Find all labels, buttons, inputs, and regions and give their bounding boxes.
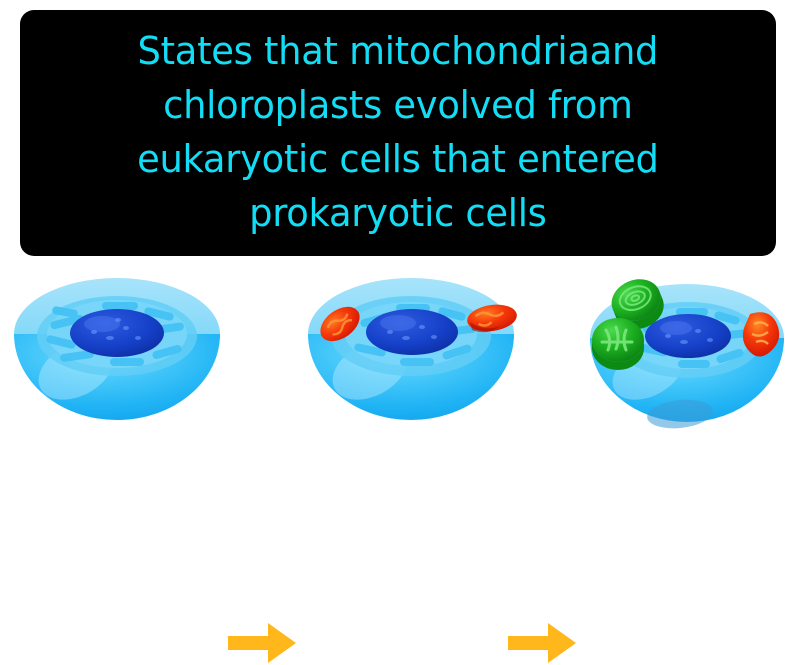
arrow-stage-2-to-3 <box>508 621 576 665</box>
cell-stage-2 <box>300 272 522 452</box>
definition-text: States that mitochondriaand chloroplasts… <box>137 25 659 241</box>
arrow-right-icon <box>508 623 576 663</box>
definition-banner: States that mitochondriaand chloroplasts… <box>20 10 776 256</box>
chloroplast-left-stage-3 <box>592 318 644 370</box>
nucleus-stage-1 <box>70 309 164 357</box>
nucleus-stage-3 <box>645 314 731 358</box>
endosymbiosis-diagram <box>0 266 800 600</box>
arrow-stage-1-to-2 <box>228 621 296 665</box>
arrow-right-icon <box>228 623 296 663</box>
nucleus-stage-2 <box>366 309 458 355</box>
cell-stage-3 <box>580 272 794 452</box>
cell-stage-1 <box>6 272 228 452</box>
